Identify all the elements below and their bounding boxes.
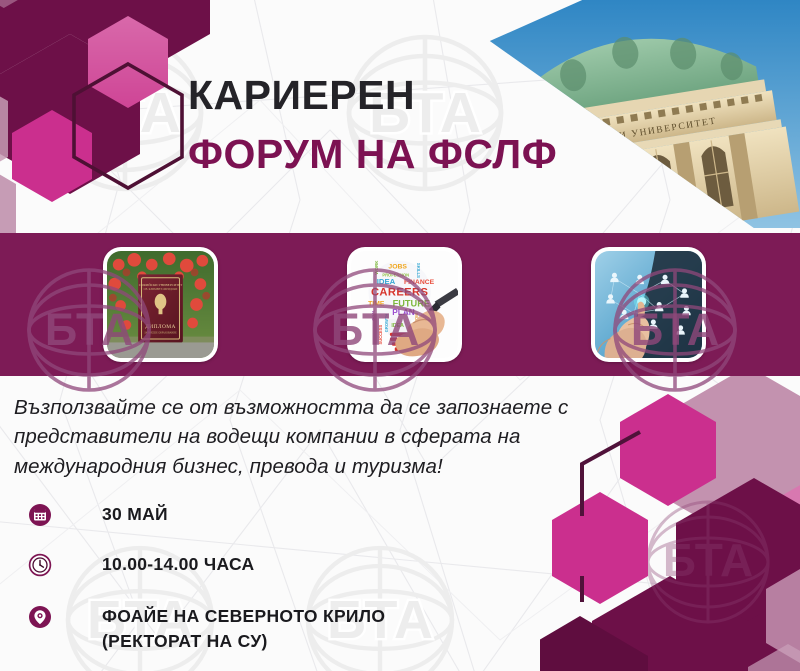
networking-touch-photo: [591, 247, 706, 362]
svg-text:WORK: WORK: [374, 260, 379, 275]
svg-text:ЗА ВИСШЕ ОБРАЗОВАНИЕ: ЗА ВИСШЕ ОБРАЗОВАНИЕ: [144, 332, 177, 335]
detail-row-time: 10.00-14.00 ЧАСА: [28, 552, 548, 577]
svg-text:TIME: TIME: [368, 300, 385, 307]
event-time-label: 10.00-14.00 ЧАСА: [102, 552, 254, 577]
svg-text:PLAN: PLAN: [392, 308, 415, 317]
svg-text:SKILLS: SKILLS: [416, 263, 421, 278]
event-date-label: 30 МАЙ: [102, 502, 168, 527]
careers-wordcloud-image: JOBS WORK SKILLS PROFESSION IDEA FINANCE…: [351, 251, 458, 358]
svg-text:СВ. КЛИМЕНТ ОХРИДСКИ: СВ. КЛИМЕНТ ОХРИДСКИ: [144, 288, 178, 291]
svg-text:GOAL: GOAL: [370, 309, 375, 321]
networking-touch-image: [595, 251, 702, 358]
svg-text:FINANCE: FINANCE: [404, 279, 435, 286]
svg-text:FUTURE: FUTURE: [393, 298, 430, 308]
intro-paragraph: Възползвайте се от възможността да се за…: [14, 393, 596, 481]
event-details: 30 МАЙ 10.00-14.00 ЧАСА: [28, 502, 548, 654]
diploma-photo-image: СОФИЙСКИ УНИВЕРСИТЕТ СВ. КЛИМЕНТ ОХРИДСК…: [107, 251, 214, 358]
svg-text:IDEA: IDEA: [391, 323, 404, 329]
svg-text:CAREERS: CAREERS: [371, 287, 429, 299]
event-location-line2: (РЕКТОРАТ НА СУ): [102, 629, 385, 654]
diploma-photo: СОФИЙСКИ УНИВЕРСИТЕТ СВ. КЛИМЕНТ ОХРИДСК…: [103, 247, 218, 362]
event-location-label: ФОАЙЕ НА СЕВЕРНОТО КРИЛО (РЕКТОРАТ НА СУ…: [102, 604, 385, 654]
page-title-line2: ФОРУМ НА ФСЛФ: [188, 133, 628, 176]
detail-row-location: ФОАЙЕ НА СЕВЕРНОТО КРИЛО (РЕКТОРАТ НА СУ…: [28, 604, 548, 654]
svg-text:БТА: БТА: [69, 81, 181, 145]
photo-band: БТА БТА: [0, 233, 800, 376]
clock-icon: [28, 553, 52, 577]
svg-text:IDEA: IDEA: [377, 277, 396, 286]
svg-text:SUCCESS: SUCCESS: [378, 325, 383, 345]
svg-text:БТА: БТА: [663, 534, 753, 586]
event-poster: БТА БТА БТА: [0, 0, 800, 671]
location-pin-icon: [28, 605, 52, 629]
page-title-line1: КАРИЕРЕН: [188, 74, 628, 117]
calendar-icon: [28, 503, 52, 527]
svg-text:ДИПЛОМА: ДИПЛОМА: [145, 324, 176, 330]
svg-text:СОФИЙСКИ УНИВЕРСИТЕТ: СОФИЙСКИ УНИВЕРСИТЕТ: [139, 282, 182, 287]
poster-heading: КАРИЕРЕН ФОРУМ НА ФСЛФ: [188, 74, 628, 176]
svg-text:JOBS: JOBS: [388, 264, 407, 271]
svg-text:GROWTH: GROWTH: [384, 314, 389, 333]
detail-row-date: 30 МАЙ: [28, 502, 548, 527]
event-location-line1: ФОАЙЕ НА СЕВЕРНОТО КРИЛО: [102, 606, 385, 626]
careers-wordcloud-photo: JOBS WORK SKILLS PROFESSION IDEA FINANCE…: [347, 247, 462, 362]
